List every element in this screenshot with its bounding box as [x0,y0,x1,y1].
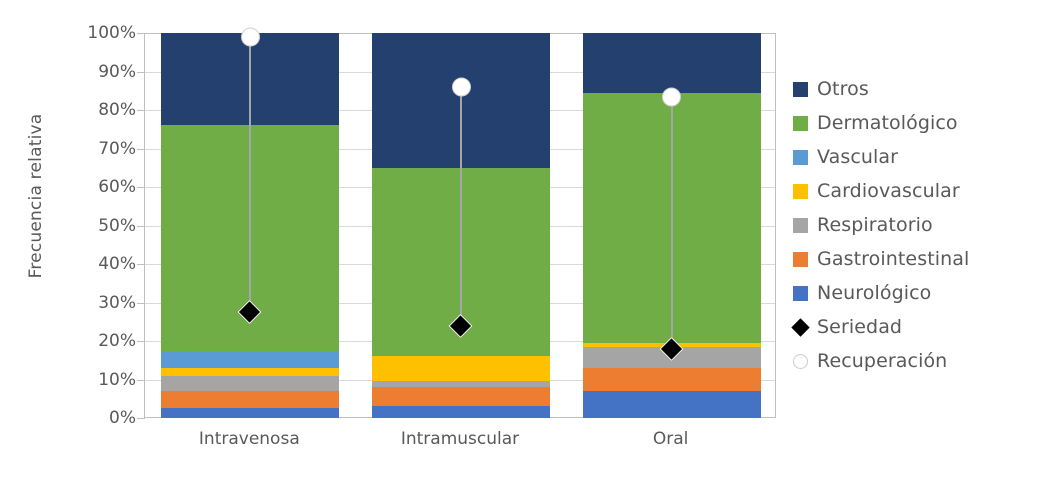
recuperacion-marker[interactable] [452,77,471,96]
legend-swatch-circle-icon [793,354,808,369]
y-axis-tick-label: 80% [58,100,136,120]
legend-item[interactable]: Dermatológico [793,106,1043,140]
bar-segment-gastrointestinal[interactable] [583,368,761,391]
legend-item-label: Vascular [817,146,898,168]
x-axis-tick-label: Intravenosa [144,429,355,449]
legend-item-label: Neurológico [817,282,931,304]
y-axis-tick-mark [137,418,145,419]
bar-segment-otros[interactable] [583,33,761,93]
y-axis-tick-label: 40% [58,254,136,274]
marker-connector-line [249,37,251,312]
y-axis-tick-label: 70% [58,139,136,159]
marker-connector-line [460,87,462,326]
y-axis-tick-label: 0% [58,408,136,428]
y-axis-tick-label: 20% [58,331,136,351]
plot-area [144,33,776,418]
x-axis-tick-label: Intramuscular [355,429,566,449]
legend-item-label: Respiratorio [817,214,933,236]
bar-segment-neurolgico[interactable] [583,391,761,418]
y-axis-title: Frecuencia relativa [26,96,46,296]
legend-swatch-square-icon [793,218,808,233]
legend: OtrosDermatológicoVascularCardiovascular… [793,72,1043,378]
legend-item-label: Cardiovascular [817,180,960,202]
legend-item[interactable]: Recuperación [793,344,1043,378]
y-axis-tick-mark [137,264,145,265]
legend-item[interactable]: Vascular [793,140,1043,174]
bar-segment-respiratorio[interactable] [372,381,550,387]
y-axis-tick-mark [137,187,145,188]
legend-swatch-diamond-icon [791,318,809,336]
legend-item-label: Otros [817,78,869,100]
stacked-bar-chart: Frecuencia relativa 0%10%20%30%40%50%60%… [0,0,1049,482]
legend-swatch-square-icon [793,184,808,199]
x-axis-tick-label: Oral [565,429,776,449]
bar-segment-vascular[interactable] [161,351,339,368]
bar-segment-gastrointestinal[interactable] [161,391,339,408]
legend-swatch-square-icon [793,252,808,267]
y-axis-tick-mark [137,72,145,73]
legend-item-label: Seriedad [817,316,902,338]
legend-item-label: Gastrointestinal [817,248,969,270]
legend-item[interactable]: Seriedad [793,310,1043,344]
legend-item-label: Recuperación [817,350,947,372]
y-axis-tick-mark [137,341,145,342]
bar-group[interactable] [372,33,550,417]
y-axis-tick-mark [137,380,145,381]
legend-item[interactable]: Neurológico [793,276,1043,310]
legend-swatch-square-icon [793,286,808,301]
bar-segment-cardiovascular[interactable] [161,368,339,376]
legend-swatch-square-icon [793,116,808,131]
legend-item-label: Dermatológico [817,112,958,134]
bar-segment-cardiovascular[interactable] [372,356,550,381]
recuperacion-marker[interactable] [662,87,681,106]
y-axis-tick-label: 50% [58,216,136,236]
legend-swatch-square-icon [793,82,808,97]
y-axis-tick-label: 60% [58,177,136,197]
legend-item[interactable]: Cardiovascular [793,174,1043,208]
marker-connector-line [671,97,673,349]
bar-segment-respiratorio[interactable] [161,376,339,391]
bar-group[interactable] [161,33,339,417]
y-axis-tick-mark [137,149,145,150]
recuperacion-marker[interactable] [241,27,260,46]
bar-group[interactable] [583,33,761,417]
y-axis-tick-label: 90% [58,62,136,82]
y-axis-tick-mark [137,303,145,304]
y-axis-tick-label: 30% [58,293,136,313]
bar-segment-neurolgico[interactable] [372,406,550,418]
bar-segment-neurolgico[interactable] [161,408,339,418]
legend-item[interactable]: Respiratorio [793,208,1043,242]
y-axis-tick-mark [137,226,145,227]
y-axis-tick-mark [137,110,145,111]
bar-segment-gastrointestinal[interactable] [372,387,550,406]
y-axis-tick-label: 10% [58,370,136,390]
legend-swatch-square-icon [793,150,808,165]
y-axis-tick-label: 100% [58,23,136,43]
legend-item[interactable]: Otros [793,72,1043,106]
y-axis-tick-mark [137,33,145,34]
legend-item[interactable]: Gastrointestinal [793,242,1043,276]
